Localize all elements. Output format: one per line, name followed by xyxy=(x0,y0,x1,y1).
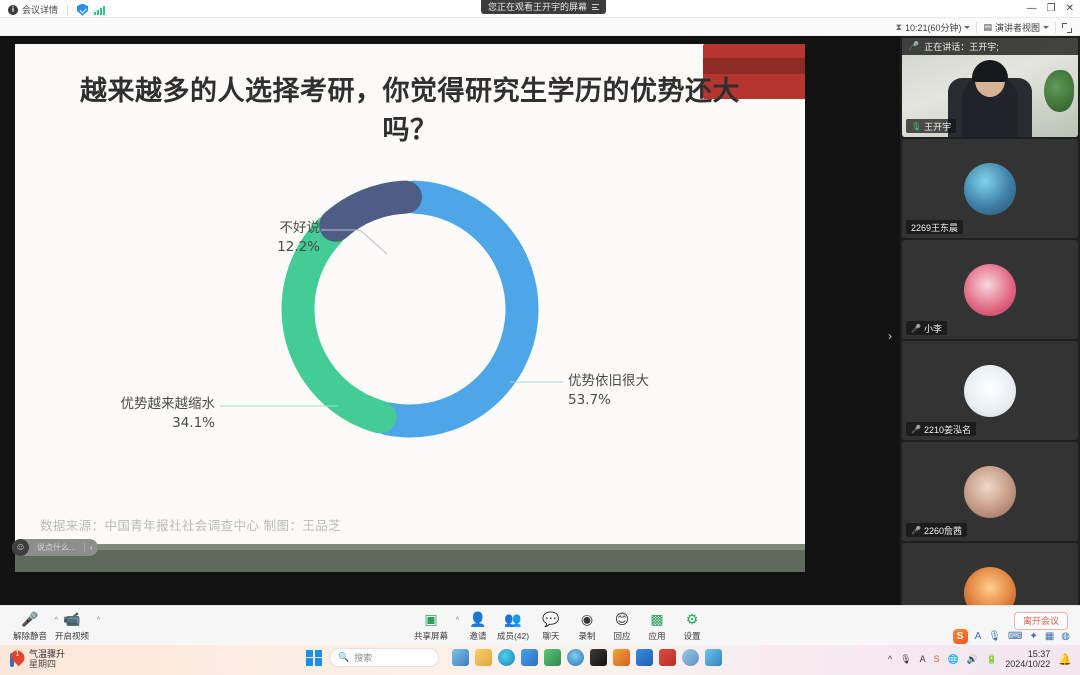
taskbar-app-icon-browser[interactable] xyxy=(567,649,584,666)
taskbar-app-icon-qq[interactable] xyxy=(590,649,607,666)
slice-label-buhaoshuo: 不好说 12.2% xyxy=(210,216,320,256)
taskbar-app-icon-edge[interactable] xyxy=(498,649,515,666)
system-tray: ^ 🎙 A S 🌐 🔊 🔋 15:37 2024/10/22 🔔 xyxy=(888,649,1072,670)
slice-label-text: 优势越来越缩水 xyxy=(121,396,216,412)
sogou-ime-icon[interactable]: S xyxy=(953,629,968,644)
ime-tools-icon[interactable]: ✦ xyxy=(1029,631,1037,642)
titlebar-left-group: i 会议详情 xyxy=(8,3,105,16)
tray-mic-icon[interactable]: 🎙 xyxy=(900,654,911,665)
window-subbar: ⧗ 10:21(60分钟) ▤ 演讲者视图 xyxy=(0,18,1080,36)
tray-font-icon[interactable]: A xyxy=(920,654,926,664)
ime-apps-icon[interactable]: ▦ xyxy=(1045,631,1054,642)
video-label: 开启视频 xyxy=(55,630,89,642)
slide-title: 越来越多的人选择考研，你觉得研究生学历的优势还大吗？ xyxy=(55,72,765,150)
taskbar-app-icon-store[interactable] xyxy=(521,649,538,666)
participant-tile-xiaoli[interactable]: 🎤 小李 xyxy=(902,240,1078,339)
tray-expand-icon[interactable]: ^ xyxy=(888,654,892,664)
tray-sogou-icon[interactable]: S xyxy=(934,654,940,664)
chart-source-note: 数据来源：中国青年报社社会调查中心 制图：王品芝 xyxy=(40,515,341,534)
apps-label: 应用 xyxy=(648,630,665,642)
taskbar-app-icons xyxy=(452,649,722,666)
mic-muted-icon: 🎤 xyxy=(911,425,921,434)
window-controls: — ❐ ✕ xyxy=(1027,3,1074,14)
reaction-icon: 😊 xyxy=(615,610,630,628)
speaking-banner-text: 正在讲话：王开宇; xyxy=(924,40,999,53)
leader-lines xyxy=(15,154,805,514)
participant-tile-wangkaiyu[interactable]: 🎤 正在讲话：王开宇; 🎙 王开宇 xyxy=(902,38,1078,137)
mic-on-icon: 🎙 xyxy=(911,122,921,131)
apps-icon: ▩ xyxy=(650,610,663,628)
mic-muted-icon: 🎤 xyxy=(911,526,921,535)
floating-chat-input[interactable]: ☺ 说点什么... ‹ xyxy=(12,539,98,556)
meeting-toolbar: 🎤 解除静音 ^ 📹 开启视频 ^ ▣ 共享屏幕 ^ 👤 邀请 👥 成员(42) xyxy=(0,605,1080,645)
camera-off-icon: 📹 xyxy=(63,610,80,628)
titlebar-right-group: — ❐ ✕ xyxy=(1027,3,1074,14)
screen-root: i 会议详情 您正在观看王开宇的屏幕 — ❐ ✕ xyxy=(0,0,1080,675)
participant-tile-jianghongming[interactable]: 🎤 2210姜泓名 xyxy=(902,341,1078,440)
speaking-banner: 🎤 正在讲话：王开宇; xyxy=(902,38,1078,55)
weather-title: 气温骤升 xyxy=(29,649,65,659)
taskbar-app-icon-wps[interactable] xyxy=(659,649,676,666)
taskbar-app-icon-cloud[interactable] xyxy=(705,649,722,666)
plant-decoration xyxy=(1044,70,1074,112)
clock-time: 15:37 xyxy=(1005,649,1050,659)
desk-decoration xyxy=(15,550,805,572)
chat-icon: 💬 xyxy=(542,610,559,628)
mic-muted-icon: 🎤 xyxy=(911,324,921,333)
shared-slide: 越来越多的人选择考研，你觉得研究生学历的优势还大吗？ xyxy=(15,44,805,572)
participant-name: 2260詹茜 xyxy=(924,524,962,537)
taskbar-clock[interactable]: 15:37 2024/10/22 xyxy=(1005,649,1050,670)
watching-screen-banner: 您正在观看王开宇的屏幕 xyxy=(481,0,606,14)
participant-name: 王开宇 xyxy=(924,120,951,133)
reaction-label: 回应 xyxy=(613,630,630,642)
minimize-button[interactable]: — xyxy=(1027,3,1037,14)
meeting-timer[interactable]: ⧗ 10:21(60分钟) xyxy=(896,21,971,34)
slice-label-value: 53.7% xyxy=(568,391,728,409)
ime-toolbar[interactable]: S A 🎙 ⌨ ✦ ▦ ◍ xyxy=(953,628,1070,644)
view-mode-label: 演讲者视图 xyxy=(995,21,1040,34)
panel-toggle-arrow[interactable]: › xyxy=(884,321,896,351)
slice-label-value: 34.1% xyxy=(45,414,215,432)
chat-input-placeholder[interactable]: 说点什么... xyxy=(29,542,84,553)
taskbar-center-group: 🔍 搜索 xyxy=(306,648,722,667)
close-button[interactable]: ✕ xyxy=(1066,3,1074,14)
participant-name-tag: 🎤 2260詹茜 xyxy=(906,523,967,537)
invite-label: 邀请 xyxy=(469,630,486,642)
settings-button[interactable]: ⚙ 设置 xyxy=(666,610,718,642)
taskbar-app-icon-gallery[interactable] xyxy=(452,649,469,666)
emoji-icon[interactable]: ☺ xyxy=(12,539,29,556)
fullscreen-icon[interactable] xyxy=(1062,23,1072,33)
chevron-down-icon xyxy=(964,26,970,29)
ime-letter-mode-icon[interactable]: A xyxy=(975,631,982,642)
share-screen-button[interactable]: ▣ 共享屏幕 ^ xyxy=(405,610,457,642)
divider xyxy=(1055,22,1056,33)
video-button[interactable]: 📹 开启视频 ^ xyxy=(46,610,98,642)
weather-widget[interactable]: 1 气温骤升 星期四 xyxy=(10,649,65,670)
shared-screen-stage: 越来越多的人选择考研，你觉得研究生学历的优势还大吗？ xyxy=(0,36,900,605)
participants-icon: 👥 xyxy=(504,610,521,628)
participant-name: 2210姜泓名 xyxy=(924,423,971,436)
participant-name: 2269王东晨 xyxy=(911,221,958,234)
banner-menu-icon[interactable] xyxy=(592,4,599,10)
taskbar-app-icon-media[interactable] xyxy=(613,649,630,666)
tray-volume-icon[interactable]: 🔊 xyxy=(967,654,978,665)
ime-keyboard-icon[interactable]: ⌨ xyxy=(1008,631,1022,642)
participant-name-tag: 🎤 2210姜泓名 xyxy=(906,422,976,436)
slice-label-text: 优势依旧很大 xyxy=(568,373,649,389)
taskbar-app-icon-settings[interactable] xyxy=(682,649,699,666)
info-icon: i xyxy=(8,5,18,15)
taskbar-search-box[interactable]: 🔍 搜索 xyxy=(329,648,439,667)
avatar xyxy=(964,163,1016,215)
search-placeholder: 搜索 xyxy=(354,651,372,664)
maximize-button[interactable]: ❐ xyxy=(1047,3,1056,14)
weather-icon: 1 xyxy=(10,650,24,668)
network-signal-icon[interactable] xyxy=(94,5,105,15)
search-icon: 🔍 xyxy=(338,652,349,663)
mic-muted-icon: 🎤 xyxy=(21,610,38,628)
share-screen-label: 共享屏幕 xyxy=(414,630,448,642)
divider xyxy=(976,22,977,33)
share-screen-icon: ▣ xyxy=(424,610,437,628)
participant-tile-wangdongchen[interactable]: 2269王东晨 xyxy=(902,139,1078,238)
avatar xyxy=(964,365,1016,417)
gear-icon: ⚙ xyxy=(686,610,699,628)
donut-chart: 不好说 12.2% 优势越来越缩水 34.1% 优势依旧很大 53.7% xyxy=(15,154,805,514)
participant-name-tag: 2269王东晨 xyxy=(906,220,963,234)
tray-battery-icon[interactable]: 🔋 xyxy=(986,654,997,665)
meeting-details-button[interactable]: i 会议详情 xyxy=(8,3,58,16)
meeting-details-label: 会议详情 xyxy=(22,3,58,16)
record-label: 录制 xyxy=(578,630,595,642)
avatar xyxy=(964,264,1016,316)
participant-name-tag: 🎤 小李 xyxy=(906,321,947,335)
slice-label-value: 12.2% xyxy=(210,238,320,256)
settings-label: 设置 xyxy=(683,630,700,642)
divider xyxy=(67,5,68,15)
meeting-timer-label: 10:21(60分钟) xyxy=(905,21,962,34)
taskbar-app-icon-zoom[interactable] xyxy=(636,649,653,666)
tray-network-icon[interactable]: 🌐 xyxy=(948,654,959,665)
participants-panel: 🎤 正在讲话：王开宇; 🎙 王开宇 2269王东晨 🎤 小李 xyxy=(900,36,1080,605)
windows-taskbar: 1 气温骤升 星期四 🔍 搜索 xyxy=(0,645,1080,675)
hourglass-icon: ⧗ xyxy=(896,22,902,33)
taskbar-app-icon-mail[interactable] xyxy=(544,649,561,666)
avatar xyxy=(964,466,1016,518)
weather-text: 气温骤升 星期四 xyxy=(29,649,65,670)
person-hair xyxy=(972,60,1008,82)
ime-voice-icon[interactable]: 🎙 xyxy=(988,631,1001,642)
invite-icon: 👤 xyxy=(469,610,486,628)
mic-muted-icon: 🎤 xyxy=(908,41,919,52)
chat-label: 聊天 xyxy=(542,630,559,642)
clock-date: 2024/10/22 xyxy=(1005,659,1050,669)
subbar-right-group: ⧗ 10:21(60分钟) ▤ 演讲者视图 xyxy=(896,21,1072,34)
collapse-chat-icon[interactable]: ‹ xyxy=(84,543,98,552)
participant-tile-zhanxi[interactable]: 🎤 2260詹茜 xyxy=(902,442,1078,541)
shield-icon[interactable] xyxy=(77,4,88,16)
taskbar-app-icon-folder[interactable] xyxy=(475,649,492,666)
slice-label-still-big: 优势依旧很大 53.7% xyxy=(568,369,728,409)
record-icon: ◉ xyxy=(581,610,593,628)
windows-start-icon[interactable] xyxy=(306,650,322,666)
view-mode-selector[interactable]: ▤ 演讲者视图 xyxy=(983,21,1049,34)
slice-label-shrinking: 优势越来越缩水 34.1% xyxy=(45,392,215,432)
layout-icon: ▤ xyxy=(983,22,992,33)
slice-label-text: 不好说 xyxy=(280,220,321,236)
chevron-down-icon xyxy=(1043,26,1049,29)
participant-name-tag: 🎙 王开宇 xyxy=(906,119,956,133)
watching-screen-text: 您正在观看王开宇的屏幕 xyxy=(488,0,587,14)
chevron-up-icon[interactable]: ^ xyxy=(97,617,100,624)
ime-account-icon[interactable]: ◍ xyxy=(1061,631,1070,642)
participant-name: 小李 xyxy=(924,322,942,335)
mute-label: 解除静音 xyxy=(13,630,47,642)
notification-bell-icon[interactable]: 🔔 xyxy=(1058,653,1072,666)
window-titlebar: i 会议详情 您正在观看王开宇的屏幕 — ❐ ✕ xyxy=(0,0,1080,18)
weather-day: 星期四 xyxy=(29,659,65,669)
zoom-meeting-window: i 会议详情 您正在观看王开宇的屏幕 — ❐ ✕ xyxy=(0,0,1080,645)
